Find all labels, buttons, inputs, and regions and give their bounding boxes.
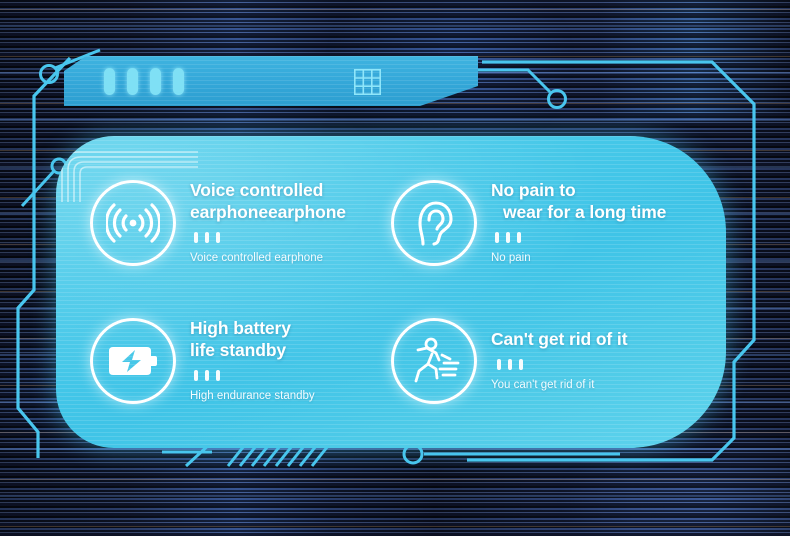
- feature-title-line-1: High battery: [190, 318, 291, 338]
- feature-separator-dots: [194, 370, 315, 381]
- feature-card-cant-get-rid-of-it[interactable]: Can't get rid of it You can't get rid of…: [391, 290, 708, 430]
- feature-separator-dots: [497, 359, 627, 370]
- features-panel: Voice controlledearphoneearphone Voice c…: [56, 136, 726, 448]
- feature-title-line-1: Can't get rid of it: [491, 329, 627, 349]
- feature-title: Can't get rid of it: [491, 329, 627, 350]
- grid-icon: [354, 69, 381, 95]
- feature-card-high-battery-life-standby[interactable]: High batterylife standby High endurance …: [90, 290, 399, 430]
- feature-title: No pain towear for a long time: [491, 180, 666, 223]
- feature-title-line-2: life standby: [190, 340, 286, 360]
- indicator-bar-1: [104, 68, 115, 95]
- feature-subtitle: High endurance standby: [190, 390, 315, 404]
- screenshot-stage: Voice controlledearphoneearphone Voice c…: [0, 0, 790, 536]
- ear-icon: [391, 180, 477, 266]
- battery-charging-icon: [90, 318, 176, 404]
- feature-text: Voice controlledearphoneearphone Voice c…: [190, 180, 346, 265]
- indicator-bar-3: [150, 68, 161, 95]
- feature-separator-dots: [194, 232, 346, 243]
- feature-separator-dots: [495, 232, 666, 243]
- feature-subtitle: No pain: [491, 252, 666, 266]
- feature-text: No pain towear for a long time No pain: [491, 180, 666, 265]
- feature-text: High batterylife standby High endurance …: [190, 318, 315, 403]
- feature-title-line-1: No pain to: [491, 180, 576, 200]
- feature-title-line-2: earphoneearphone: [190, 202, 346, 222]
- running-person-icon: [391, 318, 477, 404]
- sound-wave-icon: [90, 180, 176, 266]
- feature-text: Can't get rid of it You can't get rid of…: [491, 329, 627, 393]
- feature-title-line-2: wear for a long time: [491, 202, 666, 223]
- indicator-bar-2: [127, 68, 138, 95]
- feature-subtitle: You can't get rid of it: [491, 379, 627, 393]
- feature-title-line-1: Voice controlled: [190, 180, 323, 200]
- feature-card-voice-controlled-earphone[interactable]: Voice controlledearphoneearphone Voice c…: [90, 150, 399, 290]
- feature-title: Voice controlledearphoneearphone: [190, 180, 346, 223]
- features-grid: Voice controlledearphoneearphone Voice c…: [56, 136, 726, 448]
- feature-card-no-pain-to-wear[interactable]: No pain towear for a long time No pain: [391, 150, 708, 290]
- header-indicator-bars: [104, 68, 184, 95]
- feature-title: High batterylife standby: [190, 318, 315, 361]
- hud-header-bar: [64, 56, 478, 106]
- feature-subtitle: Voice controlled earphone: [190, 252, 346, 266]
- indicator-bar-4: [173, 68, 184, 95]
